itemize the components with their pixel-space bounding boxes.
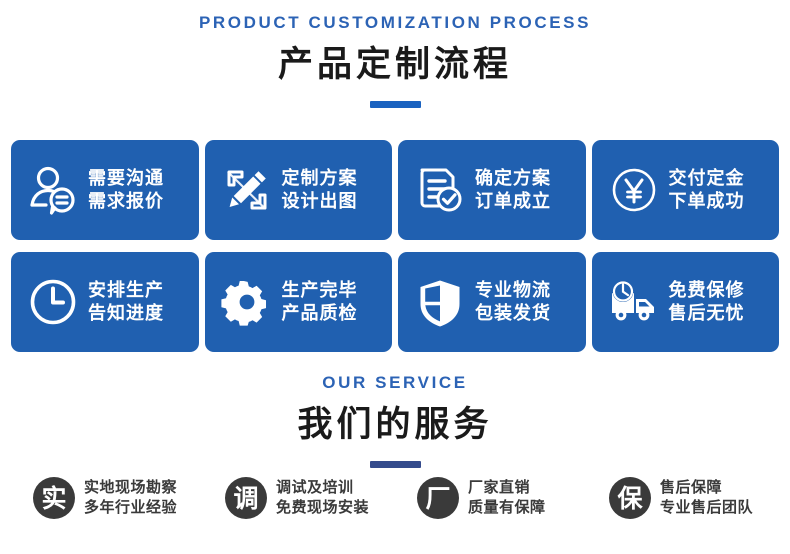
process-card-grid: 需要沟通 需求报价 [11, 140, 779, 352]
clock-icon [25, 274, 81, 330]
process-card[interactable]: 确定方案 订单成立 [398, 140, 586, 240]
truck-clock-icon [606, 274, 662, 330]
service-item[interactable]: 保 售后保障 专业售后团队 [587, 477, 779, 519]
service-english-title: OUR SERVICE [0, 374, 790, 391]
person-chat-icon [25, 162, 81, 218]
yuan-circle-icon [606, 162, 662, 218]
gear-icon [219, 274, 275, 330]
process-title-underline [370, 101, 421, 108]
service-title-underline [370, 461, 421, 468]
service-chinese-title: 我们的服务 [0, 407, 790, 442]
service-item-label: 厂家直销 质量有保障 [468, 478, 546, 519]
service-item-row: 实 实地现场勘察 多年行业经验 调 调试及培训 免费现场安装 厂 厂家直销 质量… [11, 477, 779, 519]
process-card-label: 免费保修 售后无忧 [669, 279, 745, 325]
process-card[interactable]: 生产完毕 产品质检 [205, 252, 393, 352]
process-english-title: PRODUCT CUSTOMIZATION PROCESS [0, 14, 790, 31]
service-badge-icon: 调 [225, 477, 267, 519]
process-card[interactable]: 免费保修 售后无忧 [592, 252, 780, 352]
process-card-label: 专业物流 包装发货 [475, 279, 551, 325]
process-chinese-title: 产品定制流程 [0, 47, 790, 82]
service-section-heading: OUR SERVICE 我们的服务 [0, 374, 790, 468]
page-root: PRODUCT CUSTOMIZATION PROCESS 产品定制流程 需要沟… [0, 0, 790, 554]
process-card[interactable]: 交付定金 下单成功 [592, 140, 780, 240]
process-card[interactable]: 需要沟通 需求报价 [11, 140, 199, 240]
service-badge-icon: 保 [609, 477, 651, 519]
process-card[interactable]: 安排生产 告知进度 [11, 252, 199, 352]
service-item-label: 实地现场勘察 多年行业经验 [84, 478, 177, 519]
process-card[interactable]: 专业物流 包装发货 [398, 252, 586, 352]
service-item-label: 售后保障 专业售后团队 [660, 478, 753, 519]
service-item-label: 调试及培训 免费现场安装 [276, 478, 369, 519]
service-item[interactable]: 厂 厂家直销 质量有保障 [395, 477, 587, 519]
service-badge-icon: 实 [33, 477, 75, 519]
document-check-icon [412, 162, 468, 218]
process-card[interactable]: 定制方案 设计出图 [205, 140, 393, 240]
service-item[interactable]: 调 调试及培训 免费现场安装 [203, 477, 395, 519]
process-card-label: 需要沟通 需求报价 [88, 167, 164, 213]
pencil-ruler-icon [219, 162, 275, 218]
service-badge-icon: 厂 [417, 477, 459, 519]
process-section-heading: PRODUCT CUSTOMIZATION PROCESS 产品定制流程 [0, 14, 790, 108]
shield-icon [412, 274, 468, 330]
process-card-label: 安排生产 告知进度 [88, 279, 164, 325]
service-item[interactable]: 实 实地现场勘察 多年行业经验 [11, 477, 203, 519]
process-card-label: 交付定金 下单成功 [669, 167, 745, 213]
process-card-label: 生产完毕 产品质检 [282, 279, 358, 325]
process-card-label: 定制方案 设计出图 [282, 167, 358, 213]
process-card-label: 确定方案 订单成立 [475, 167, 551, 213]
